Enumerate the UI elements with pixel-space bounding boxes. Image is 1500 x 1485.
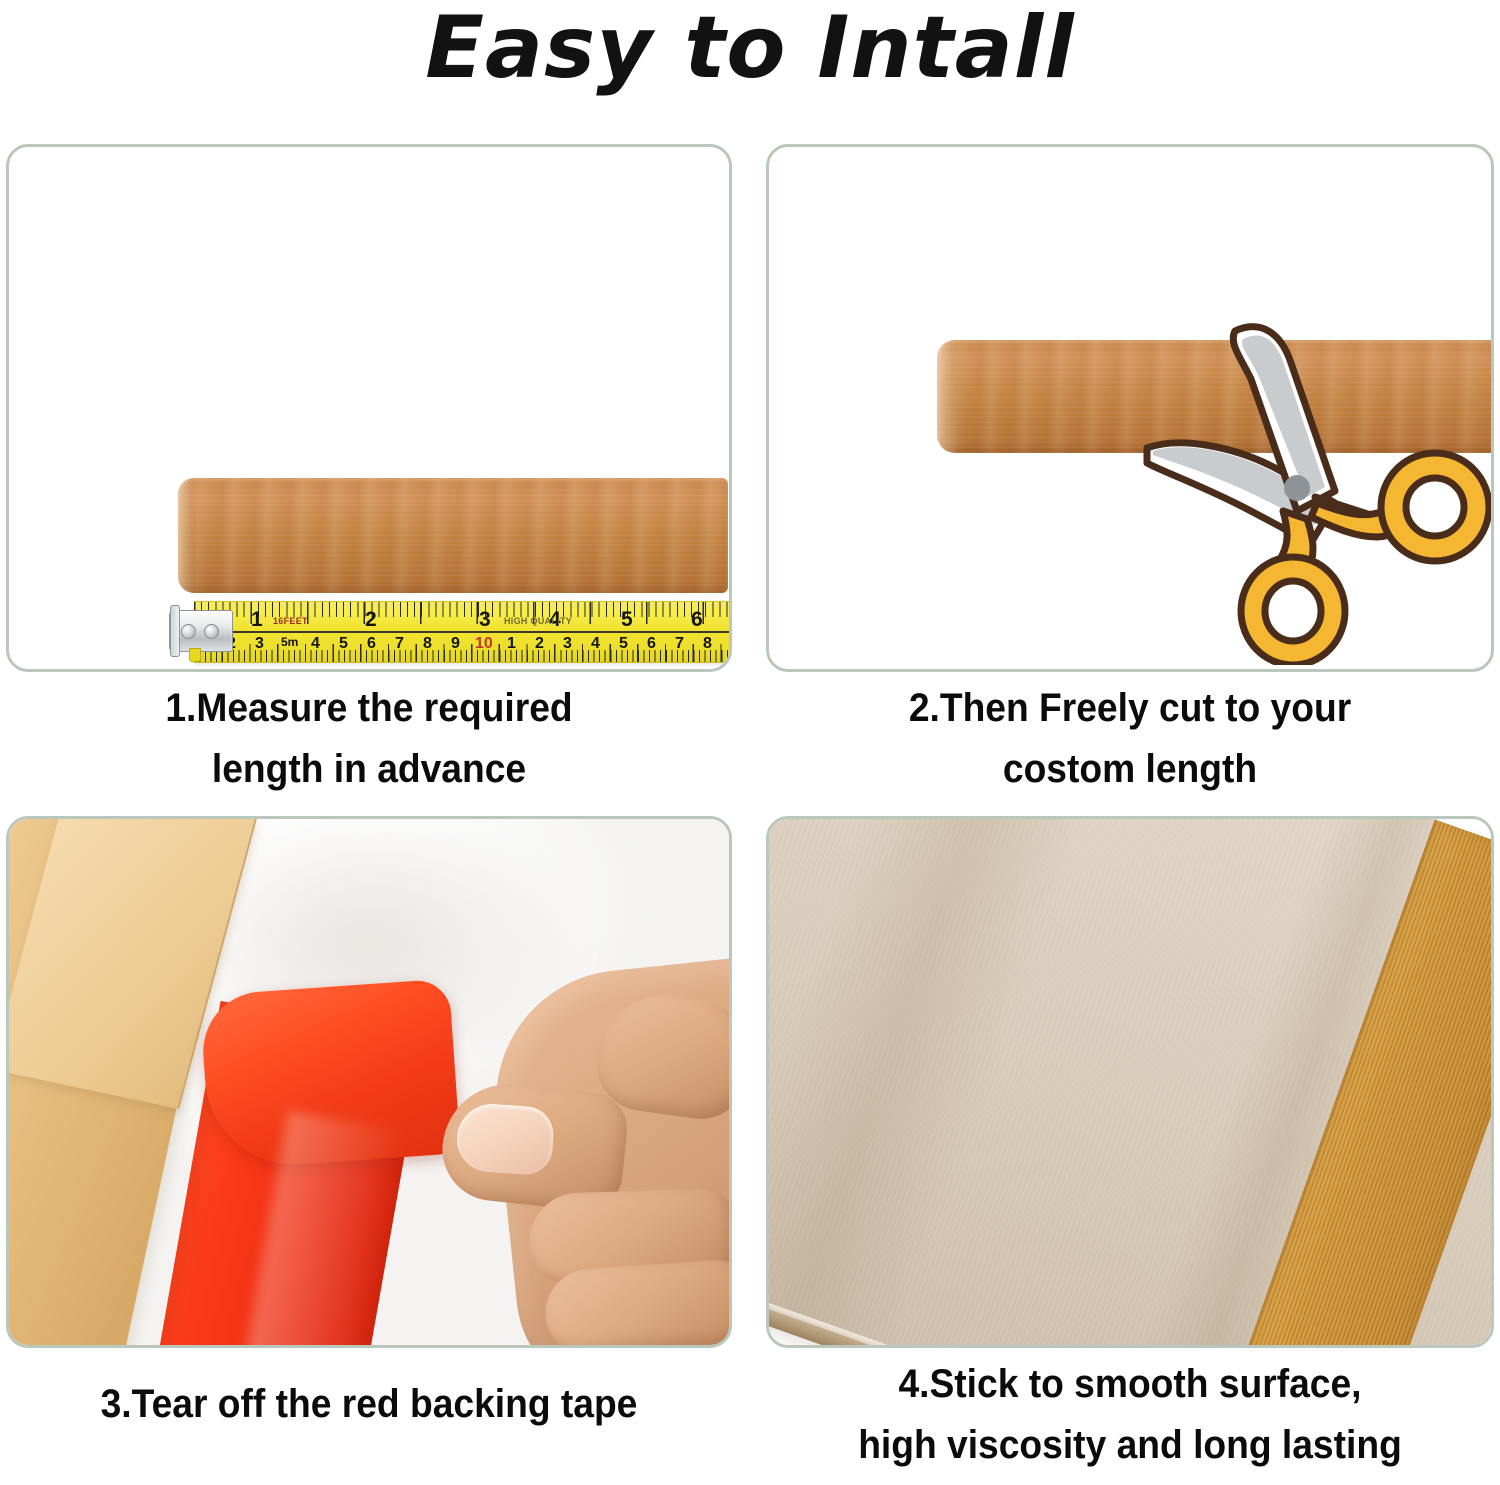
page-title: Easy to Intall — [0, 2, 1500, 95]
tape-inch-mark: 3 — [479, 609, 491, 630]
tape-cm-mark: 5 — [339, 636, 348, 652]
molding-strip-image — [178, 478, 728, 593]
step-2-image-panel — [766, 144, 1494, 672]
step-1-caption: 1.Measure the required length in advance — [31, 678, 706, 800]
installed-trim-photo — [769, 819, 1491, 1345]
step-1-image-panel: 1 2 3 4 5 6 7 16FEET HIGH QUALITY 5m 2 3… — [6, 144, 732, 672]
step-1-caption-line-1: 1.Measure the required — [31, 678, 706, 739]
tape-center-line — [194, 631, 732, 633]
peel-backing-photo — [9, 819, 729, 1345]
step-3-image-panel — [6, 816, 732, 1348]
tape-inch-mark: 2 — [365, 609, 377, 630]
tape-inch-mark: 6 — [691, 609, 703, 630]
step-2-caption-line-2: costom length — [791, 739, 1468, 800]
step-2-caption: 2.Then Freely cut to your costom length — [791, 678, 1468, 800]
tape-blade: 1 2 3 4 5 6 7 16FEET HIGH QUALITY 5m 2 3… — [194, 601, 732, 663]
tape-cm-mark: 1 — [507, 636, 516, 652]
tape-cm-mark: 2 — [535, 636, 544, 652]
tape-cm-mark: 9 — [731, 636, 732, 652]
tape-cm-mark: 4 — [311, 636, 320, 652]
tape-cm-mark: 7 — [675, 636, 684, 652]
tape-quality-label: HIGH QUALITY — [504, 616, 572, 626]
tape-cm-mark: 6 — [367, 636, 376, 652]
tape-cm-mark: 9 — [451, 636, 460, 652]
tape-cm-mark: 3 — [255, 636, 264, 652]
tape-hook-lip — [170, 605, 180, 657]
tape-cm-mark-highlight: 10 — [475, 636, 493, 652]
tape-brand-label: 16FEET — [273, 616, 308, 626]
step-4-caption-line-2: high viscosity and long lasting — [791, 1415, 1468, 1476]
floor-grain-shade — [766, 816, 1124, 1348]
wood-floor-image — [766, 816, 1494, 1348]
tape-cm-mark: 5 — [619, 636, 628, 652]
step-2-caption-line-1: 2.Then Freely cut to your — [791, 678, 1468, 739]
tape-cm-mark: 8 — [703, 636, 712, 652]
tape-measure-image: 1 2 3 4 5 6 7 16FEET HIGH QUALITY 5m 2 3… — [169, 601, 732, 661]
tape-cm-mark: 3 — [563, 636, 572, 652]
tape-cm-mark: 8 — [423, 636, 432, 652]
tape-inch-mark: 1 — [251, 609, 263, 630]
thumbnail — [455, 1102, 556, 1177]
step-3-caption: 3.Tear off the red backing tape — [31, 1374, 706, 1435]
tape-cm-mark: 4 — [591, 636, 600, 652]
scissors-icon — [1139, 305, 1494, 665]
step-4-image-panel — [766, 816, 1494, 1348]
tape-hook-rivet — [204, 624, 219, 639]
tape-metric-label: 5m — [281, 635, 298, 649]
tape-hook-rivet — [181, 624, 196, 639]
tape-inch-mark: 5 — [621, 609, 633, 630]
tape-hook-tab — [189, 648, 201, 662]
step-4-caption: 4.Stick to smooth surface, high viscosit… — [791, 1354, 1468, 1476]
step-3-caption-line-1: 3.Tear off the red backing tape — [31, 1374, 706, 1435]
step-4-caption-line-1: 4.Stick to smooth surface, — [791, 1354, 1468, 1415]
step-1-caption-line-2: length in advance — [31, 739, 706, 800]
tape-cm-mark: 6 — [647, 636, 656, 652]
tape-cm-mark: 7 — [395, 636, 404, 652]
